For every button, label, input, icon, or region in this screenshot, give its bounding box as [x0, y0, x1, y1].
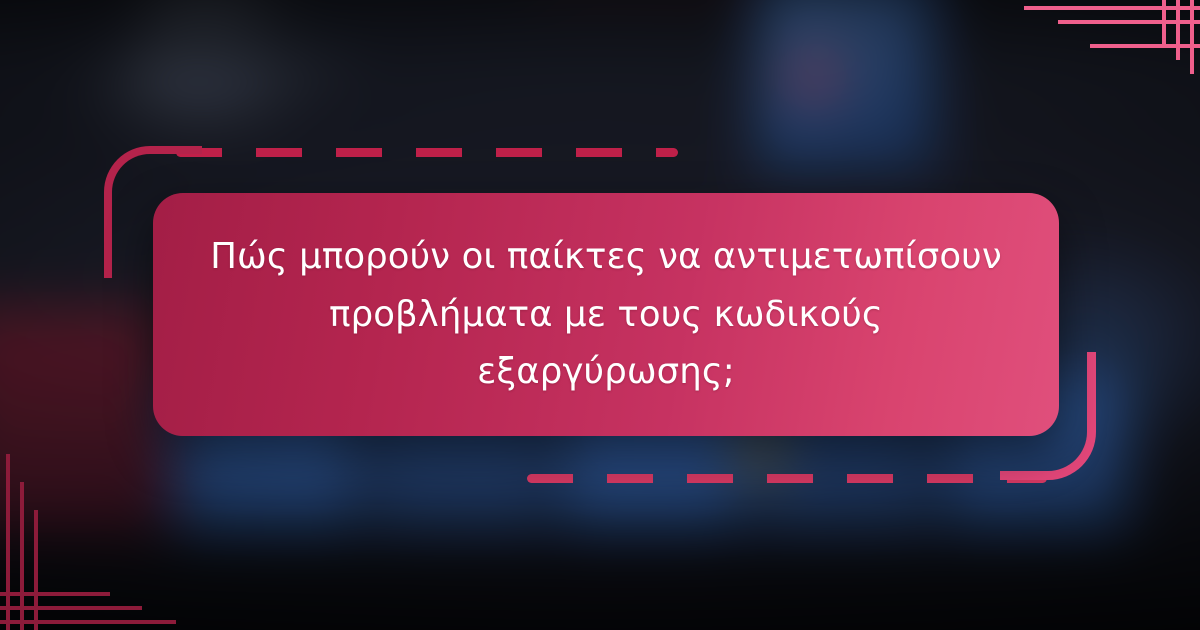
dashed-line-bottom	[527, 474, 1047, 483]
frame-line-vertical	[6, 454, 10, 630]
dashed-line-top	[176, 148, 678, 157]
frame-line-horizontal	[0, 620, 176, 624]
headline-card: Πώς μπορούν οι παίκτες να αντιμετωπίσουν…	[153, 193, 1059, 436]
corner-frame-top-right	[990, 0, 1200, 78]
og-image-canvas: Πώς μπορούν οι παίκτες να αντιμετωπίσουν…	[0, 0, 1200, 630]
frame-line-vertical	[20, 482, 24, 630]
frame-line-vertical	[1176, 0, 1180, 60]
frame-line-horizontal	[1090, 44, 1200, 48]
frame-line-horizontal	[1024, 6, 1200, 10]
headline-text: Πώς μπορούν οι παίκτες να αντιμετωπίσουν…	[206, 228, 1006, 401]
frame-line-vertical	[1162, 0, 1166, 46]
corner-frame-bottom-left	[0, 430, 210, 630]
frame-line-vertical	[1190, 0, 1194, 74]
frame-line-vertical	[34, 510, 38, 630]
frame-line-horizontal	[0, 592, 110, 596]
